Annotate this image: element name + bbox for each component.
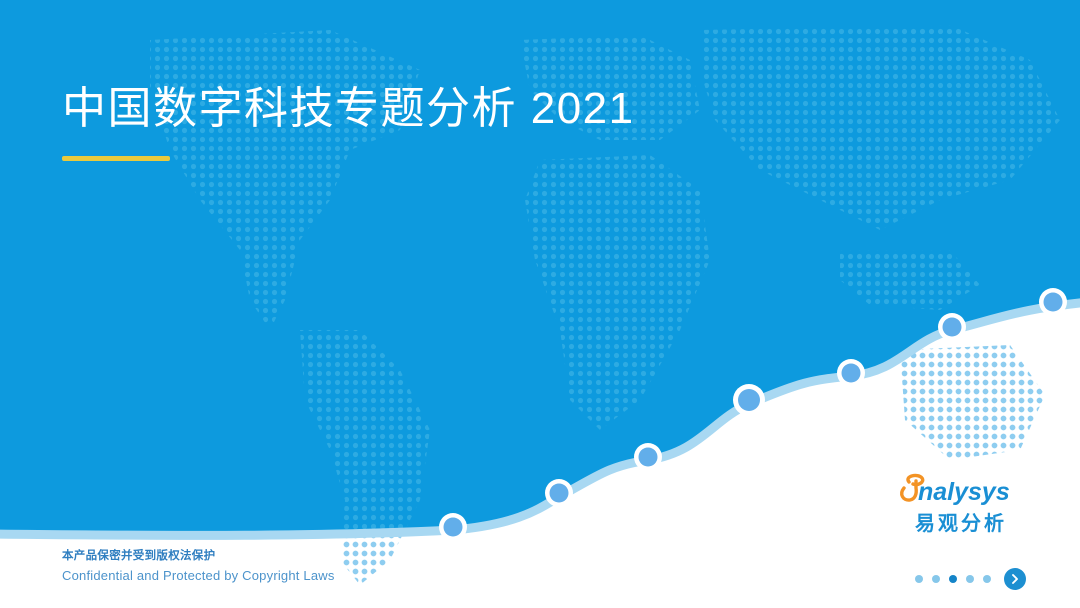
logo-name-cn: 易观分析 <box>896 507 1026 536</box>
analysys-wordmark-graphic: nalysys <box>896 472 1026 506</box>
chevron-right-icon <box>1009 573 1021 585</box>
confidential-notice-en: Confidential and Protected by Copyright … <box>62 566 335 586</box>
analysys-logo: nalysys 易观分析 <box>896 472 1026 536</box>
logo-wordmark: nalysys <box>896 472 1026 506</box>
title-block: 中国数字科技专题分析 2021 <box>62 82 635 161</box>
page-title: 中国数字科技专题分析 2021 <box>62 82 635 136</box>
next-slide-button[interactable] <box>1004 568 1026 590</box>
pager-dot-1[interactable] <box>915 575 923 583</box>
title-underline-rule <box>62 156 170 161</box>
slide-pager <box>915 568 1026 590</box>
svg-text:nalysys: nalysys <box>918 478 1010 506</box>
confidential-notice-cn: 本产品保密并受到版权法保护 <box>62 548 335 566</box>
pager-dot-4[interactable] <box>966 575 974 583</box>
presentation-cover-slide: 中国数字科技专题分析 2021 本产品保密并受到版权法保护 Confidenti… <box>0 0 1080 608</box>
pager-dot-3[interactable] <box>949 575 957 583</box>
confidential-notice: 本产品保密并受到版权法保护 Confidential and Protected… <box>62 548 335 586</box>
pager-dot-2[interactable] <box>932 575 940 583</box>
pager-dot-5[interactable] <box>983 575 991 583</box>
